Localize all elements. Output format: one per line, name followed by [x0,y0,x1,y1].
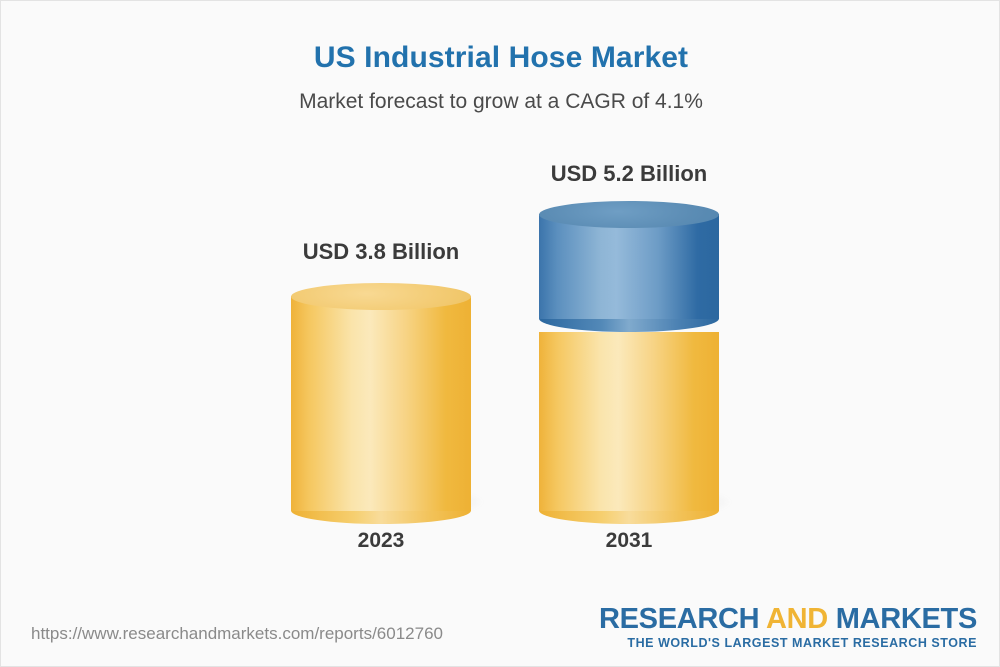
bar-cylinder-2031 [539,201,719,511]
logo-word-and: AND [766,603,828,635]
bar-cylinder-2023 [291,283,471,511]
bar-segment-yellow-2031 [539,319,719,511]
cylinder-top-ellipse [539,201,719,228]
logo-word-markets: MARKETS [836,603,977,635]
bar-category-label-2031: 2031 [509,529,749,553]
bar-value-label-2031: USD 5.2 Billion [509,161,749,187]
logo-tagline: THE WORLD'S LARGEST MARKET RESEARCH STOR… [599,636,977,650]
bar-value-label-2023: USD 3.8 Billion [261,239,501,265]
page-subtitle: Market forecast to grow at a CAGR of 4.1… [1,90,1000,114]
page-title: US Industrial Hose Market [1,41,1000,75]
cylinder-top-ellipse [291,283,471,310]
research-and-markets-logo[interactable]: RESEARCH AND MARKETS THE WORLD'S LARGEST… [599,604,977,650]
cylinder-body [539,214,719,319]
chart-plot-area: USD 3.8 Billion 2023 USD 5.2 Billion [1,131,1000,581]
bar-segment-yellow-2023 [291,283,471,511]
bar-category-label-2023: 2023 [261,529,501,553]
source-url[interactable]: https://www.researchandmarkets.com/repor… [31,624,443,644]
logo-wordmark: RESEARCH AND MARKETS [599,604,977,634]
logo-word-research: RESEARCH [599,603,759,635]
infographic-canvas: US Industrial Hose Market Market forecas… [0,0,1000,667]
bar-segment-blue-2031 [539,201,719,319]
cylinder-body [291,296,471,511]
cylinder-body [539,332,719,511]
